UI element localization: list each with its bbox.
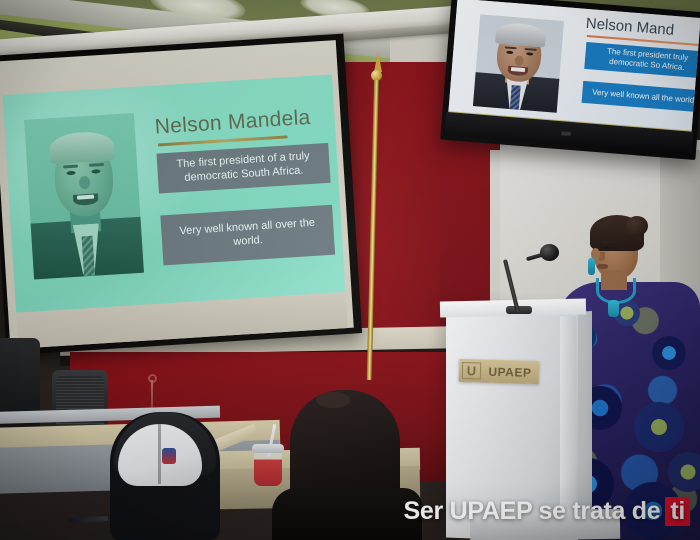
slide-bullet-2: Very well known all over the world. xyxy=(160,205,335,265)
podium-logo-plaque: U UPAEP xyxy=(459,359,540,384)
upaep-monogram-icon: U xyxy=(462,362,481,380)
banner-tagline-lead: Ser UPAEP se trata de xyxy=(404,497,661,525)
tv-portrait-photo xyxy=(473,14,564,112)
speaker-mouth xyxy=(597,264,608,269)
screen-pull-hook[interactable] xyxy=(148,374,157,408)
projection-screen: Nelson Mandela The first president of a … xyxy=(0,34,362,356)
speaker-earring xyxy=(588,258,595,275)
beverage-cup[interactable] xyxy=(252,434,284,486)
tv-ir-sensor-icon xyxy=(561,131,571,136)
podium-brand-text: UPAEP xyxy=(481,364,539,380)
tv-slide-bullet-2: Very well known all the world. xyxy=(582,81,700,113)
projected-slide: Nelson Mandela The first president of a … xyxy=(2,74,345,312)
speaker-eye xyxy=(604,246,610,249)
banner-tagline-highlight: ti xyxy=(665,497,690,526)
cap-seam xyxy=(158,424,161,484)
cup-body xyxy=(254,448,282,486)
speaker-eyebrow xyxy=(602,241,613,243)
wall-mounted-tv: Nelson Mand The first president truly de… xyxy=(440,0,700,160)
speaker-hair-bun xyxy=(626,216,648,236)
cap-logo-icon xyxy=(162,448,176,464)
banner-tagline: Ser UPAEP se trata deti xyxy=(404,497,690,526)
tv-slide-bullet-1: The first president truly democratic So … xyxy=(584,42,700,79)
projection-screen-surface: Nelson Mandela The first president of a … xyxy=(0,40,354,349)
flagpole-finial-icon xyxy=(374,52,382,72)
audience-hair-part xyxy=(316,392,350,408)
cup-lid xyxy=(252,444,284,453)
speaker-pendant xyxy=(608,300,619,317)
slide-portrait-photo xyxy=(24,113,144,280)
banner-overlay: Ser UPAEP se trata deti xyxy=(0,482,700,540)
screenshot-root: Nelson Mandela The first president of a … xyxy=(0,0,700,540)
microphone-icon xyxy=(540,244,559,261)
